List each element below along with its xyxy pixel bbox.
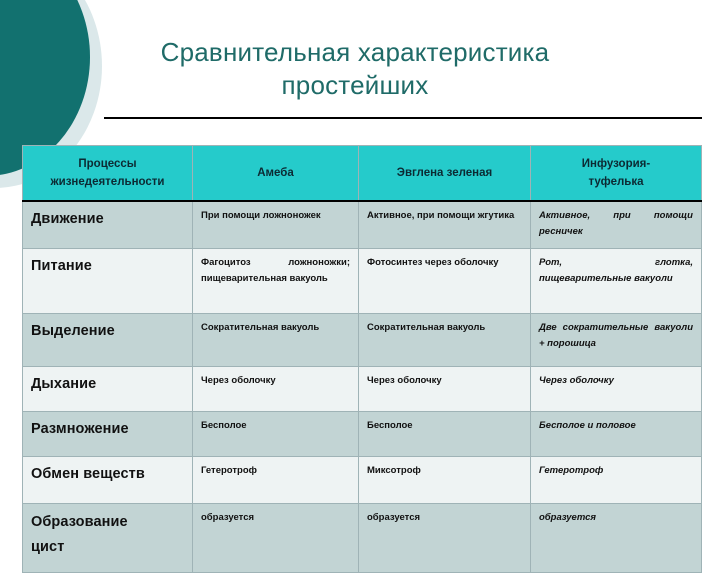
cell-reproduction-euglena: Бесполое [359,412,531,457]
cell-metabolism-infusoria: Гетеротроф [531,457,702,504]
cell-cyst-ameba: образуется [193,504,359,573]
comparison-table: Процессы жизнедеятельности Амеба Эвглена… [22,145,702,573]
row-label-cyst-line-2: цист [31,539,64,555]
table-row-nutrition: Питание Фагоцитоз ложноножки; пищеварите… [23,249,702,314]
column-header-processes-line-2: жизнедеятельности [50,176,164,188]
cell-metabolism-euglena: Миксотроф [359,457,531,504]
table-row-excretion: Выделение Сократительная вакуоль Сократи… [23,314,702,367]
cell-movement-euglena: Активное, при помощи жгутика [359,201,531,249]
table-row-reproduction: Размножение Бесполое Бесполое Бесполое и… [23,412,702,457]
cell-movement-ameba: При помощи ложноножек [193,201,359,249]
cell-excretion-euglena: Сократительная вакуоль [359,314,531,367]
cell-respiration-ameba: Через оболочку [193,367,359,412]
column-header-euglena: Эвглена зеленая [359,146,531,202]
cell-respiration-infusoria: Через оболочку [531,367,702,412]
comparison-table-container: Процессы жизнедеятельности Амеба Эвглена… [22,145,701,573]
cell-excretion-ameba: Сократительная вакуоль [193,314,359,367]
table-row-respiration: Дыхание Через оболочку Через оболочку Че… [23,367,702,412]
cell-reproduction-ameba: Бесполое [193,412,359,457]
cell-movement-infusoria: Активное, при помощи ресничек [531,201,702,249]
cell-nutrition-ameba: Фагоцитоз ложноножки; пищеварительная ва… [193,249,359,314]
column-header-processes: Процессы жизнедеятельности [23,146,193,202]
row-label-excretion: Выделение [23,314,193,367]
row-label-reproduction: Размножение [23,412,193,457]
cell-excretion-infusoria: Две сократительные вакуоли + порошица [531,314,702,367]
cell-cyst-euglena: образуется [359,504,531,573]
row-label-metabolism: Обмен веществ [23,457,193,504]
table-header: Процессы жизнедеятельности Амеба Эвглена… [23,146,702,202]
table-header-row: Процессы жизнедеятельности Амеба Эвглена… [23,146,702,202]
column-header-ameba-label: Амеба [257,167,294,179]
row-label-movement: Движение [23,201,193,249]
table-row-cyst-formation: Образование цист образуется образуется о… [23,504,702,573]
table-body: Движение При помощи ложноножек Активное,… [23,201,702,573]
column-header-ameba: Амеба [193,146,359,202]
slide-title-line-2: простейших [282,70,429,100]
row-label-respiration: Дыхание [23,367,193,412]
cell-reproduction-infusoria: Бесполое и половое [531,412,702,457]
column-header-euglena-label: Эвглена зеленая [397,167,492,179]
cell-nutrition-euglena: Фотосинтез через оболочку [359,249,531,314]
slide-title-line-1: Сравнительная характеристика [161,37,550,67]
row-label-cyst-line-1: Образование [31,514,128,530]
title-divider-rule [104,117,702,119]
column-header-infusoria-line-1: Инфузория- [582,158,650,170]
cell-metabolism-ameba: Гетеротроф [193,457,359,504]
column-header-infusoria-line-2: туфелька [589,176,644,188]
row-label-nutrition: Питание [23,249,193,314]
slide-title: Сравнительная характеристика простейших [105,36,605,102]
column-header-infusoria: Инфузория- туфелька [531,146,702,202]
cell-cyst-infusoria: образуется [531,504,702,573]
cell-nutrition-infusoria: Рот, глотка, пищеварительные вакуоли [531,249,702,314]
column-header-processes-line-1: Процессы [78,158,136,170]
table-row-movement: Движение При помощи ложноножек Активное,… [23,201,702,249]
cell-respiration-euglena: Через оболочку [359,367,531,412]
row-label-cyst-formation: Образование цист [23,504,193,573]
table-row-metabolism: Обмен веществ Гетеротроф Миксотроф Гетер… [23,457,702,504]
